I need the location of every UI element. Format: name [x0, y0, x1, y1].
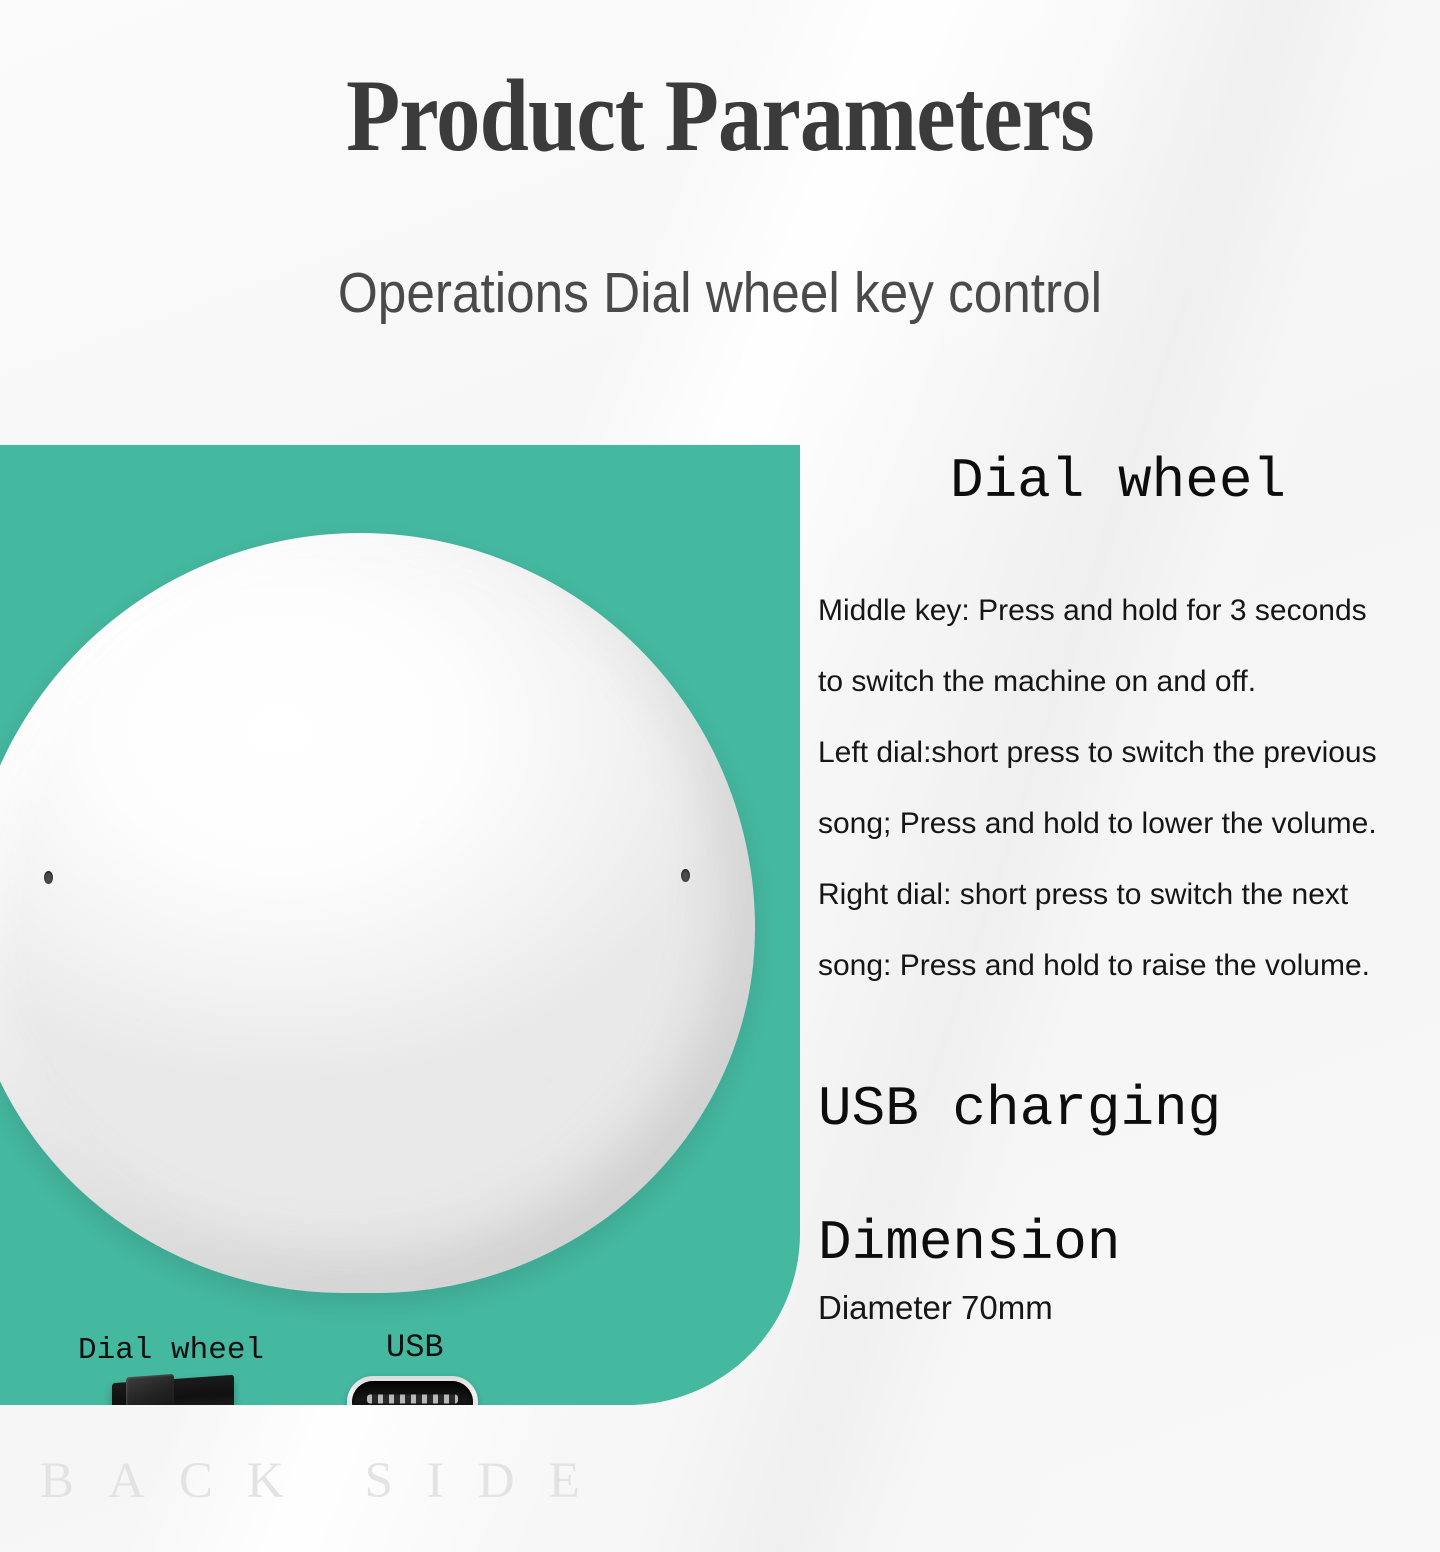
callout-dial-wheel: Dial wheel [78, 1333, 264, 1368]
spec-heading-dial-wheel: Dial wheel [818, 453, 1418, 509]
page-subtitle: Operations Dial wheel key control [72, 262, 1368, 325]
pinhole-right-icon [681, 869, 690, 882]
instruction-line: to switch the machine on and off. [818, 646, 1418, 717]
spec-heading-usb-charging: USB charging [818, 1081, 1418, 1137]
usb-port-cavity [352, 1381, 473, 1405]
specifications-column: Dial wheel Middle key: Press and hold fo… [818, 445, 1418, 1327]
usb-port-tongue [367, 1395, 459, 1404]
instruction-line: Right dial: short press to switch the ne… [818, 859, 1418, 930]
dial-wheel-instructions: Middle key: Press and hold for 3 seconds… [818, 575, 1418, 1001]
usb-c-port [347, 1376, 478, 1405]
pinhole-left-icon [44, 871, 53, 884]
instruction-line: song: Press and hold to raise the volume… [818, 930, 1418, 1001]
instruction-line: song; Press and hold to lower the volume… [818, 788, 1418, 859]
page-title: Product Parameters [101, 62, 1339, 170]
back-side-watermark: BACK SIDE [40, 1452, 614, 1510]
dial-wheel-switch[interactable] [112, 1375, 234, 1405]
spec-heading-dimension: Dimension [818, 1215, 1418, 1271]
instruction-line: Left dial:short press to switch the prev… [818, 717, 1418, 788]
dial-wheel-nub [126, 1374, 174, 1405]
speaker-device-body [0, 533, 755, 1293]
instruction-line: Middle key: Press and hold for 3 seconds [818, 575, 1418, 646]
dimension-value: Diameter 70mm [818, 1289, 1418, 1327]
product-photo-panel: Dial wheel USB Speaker [0, 445, 800, 1405]
callout-usb: USB [386, 1329, 444, 1366]
